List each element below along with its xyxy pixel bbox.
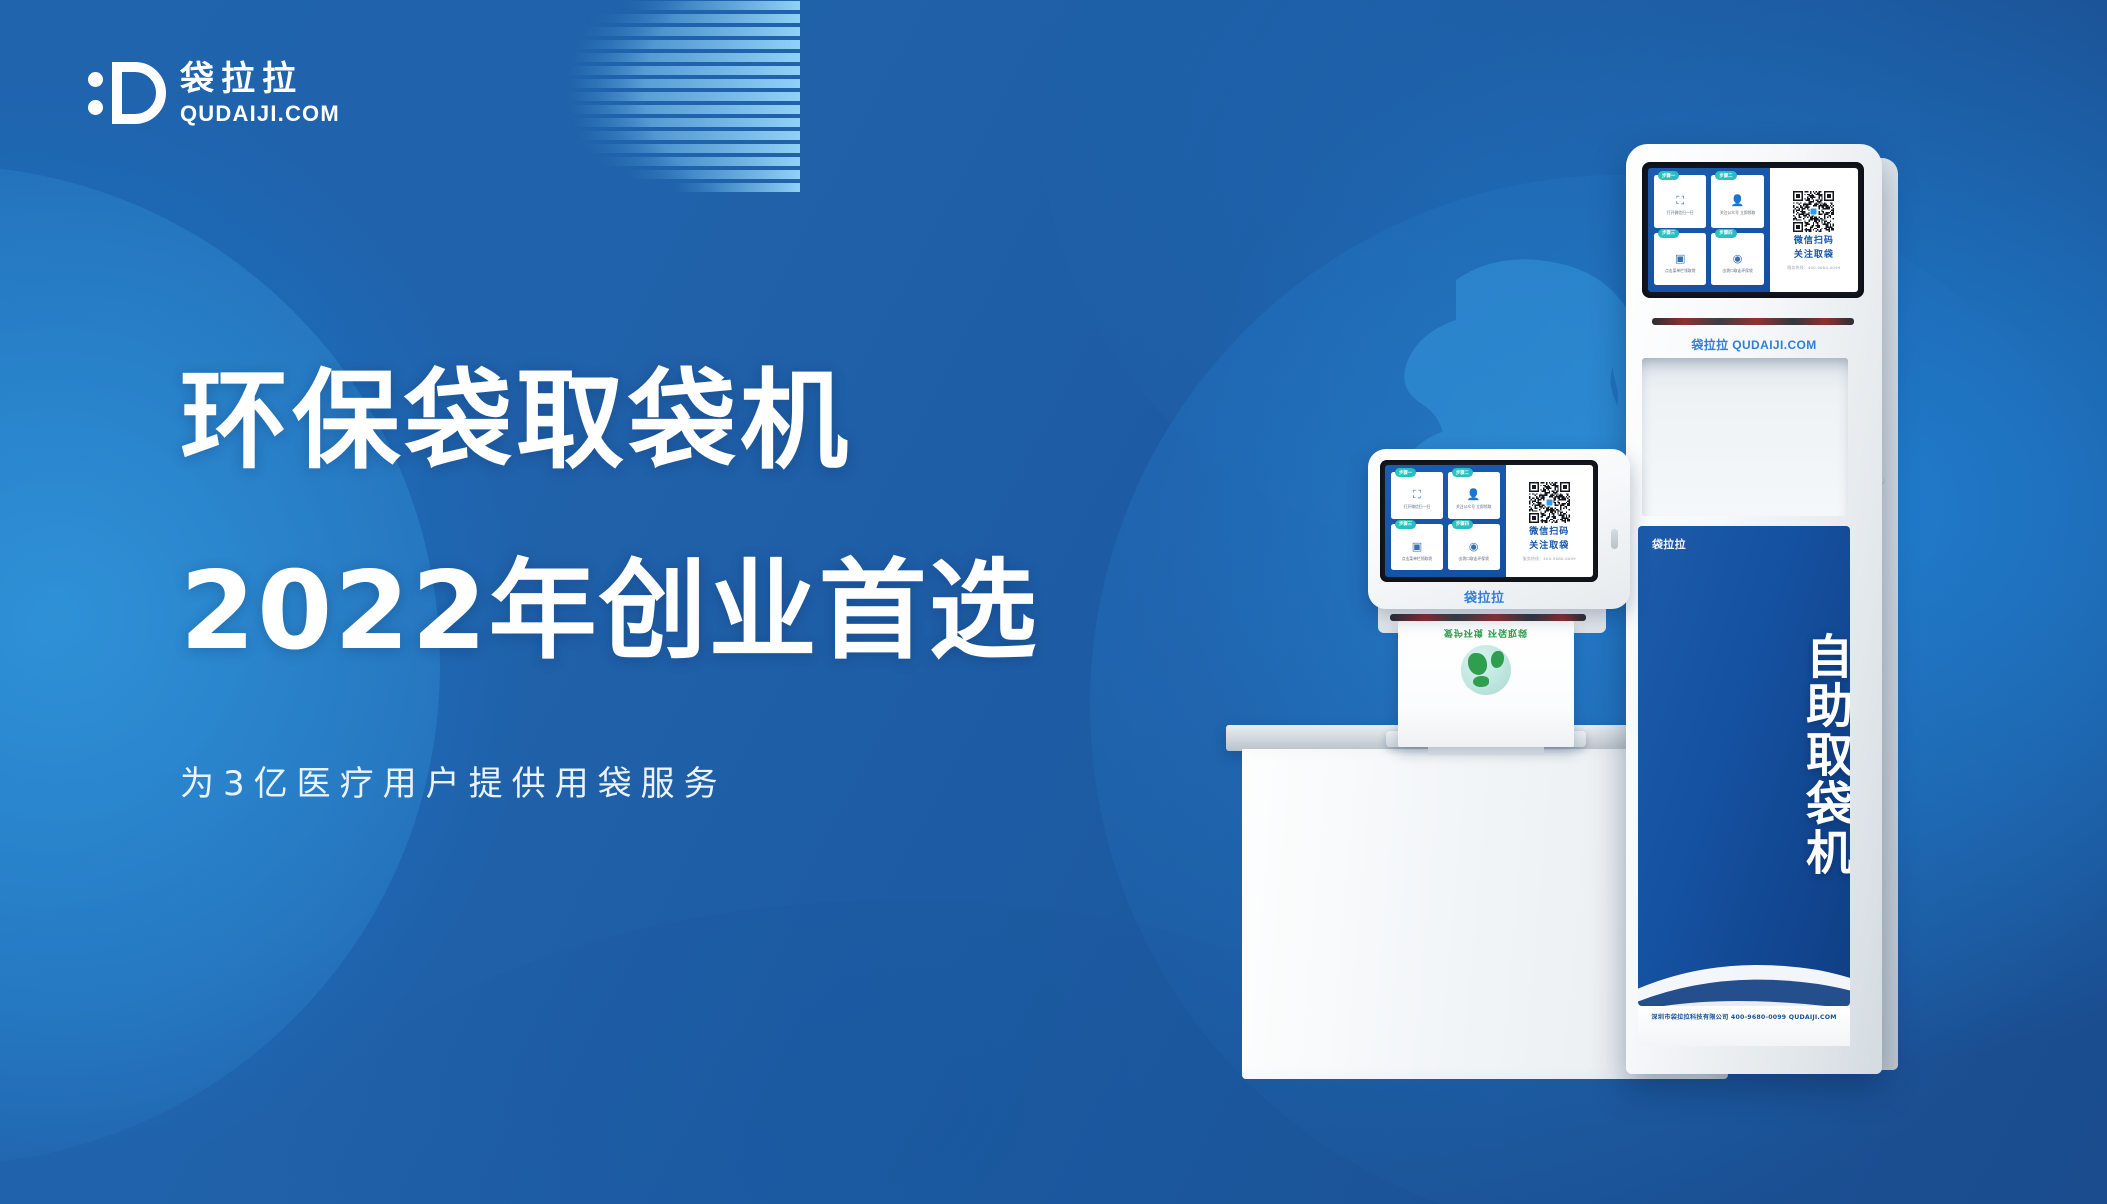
kiosk-step-card[interactable]: 步骤一⛶打开微信扫一扫 (1654, 175, 1706, 228)
kiosk-step-caption: 出袋口取走环保袋 (1457, 556, 1491, 561)
decor-stripe (503, 131, 800, 140)
hero-headline-line2: 2022年创业首选 (180, 558, 1180, 666)
kiosk-steps-grid: 步骤一⛶打开微信扫一扫步骤二👤关注公众号 立即领取步骤三▣点击菜单栏领取袋步骤四… (1385, 465, 1506, 577)
logo-dot-lower (88, 100, 103, 115)
decor-stripe (442, 79, 800, 88)
green-globe-icon (1461, 645, 1511, 695)
kiosk-step-caption: 出袋口取走环保袋 (1720, 268, 1754, 273)
dispensed-eco-bag: 爱护环境 环保取袋 (1398, 621, 1574, 747)
promo-banner: 袋拉拉 QUDAIJI.COM 环保袋取袋机 2022年创业首选 为3亿医疗用户… (0, 0, 2107, 1204)
check-circle-icon: ◉ (1731, 253, 1744, 266)
qr-label-line2: 关注取袋 (1529, 541, 1569, 551)
decor-stripe (476, 118, 800, 127)
scan-frame-icon: ⛶ (1674, 195, 1687, 208)
logo-d-letter (112, 62, 166, 124)
kiosk-step-card[interactable]: 步骤四◉出袋口取走环保袋 (1711, 233, 1763, 286)
kiosk-screen-ui: 步骤一⛶打开微信扫一扫步骤二👤关注公众号 立即领取步骤三▣点击菜单栏领取袋步骤四… (1385, 465, 1593, 577)
hero-subline: 为3亿医疗用户提供用袋服务 (180, 756, 1180, 805)
counter-kiosk-dispense-slot (1390, 614, 1586, 621)
decor-stripe (620, 1, 800, 10)
kiosk-screen-ui: 步骤一⛶打开微信扫一扫步骤二👤关注公众号 立即领取步骤三▣点击菜单栏领取袋步骤四… (1648, 168, 1858, 292)
kiosk-step-card[interactable]: 步骤二👤关注公众号 立即领取 (1448, 472, 1500, 519)
decor-stripe (476, 53, 800, 62)
kiosk-step-badge: 步骤二 (1715, 171, 1736, 180)
decor-stripe (455, 105, 800, 114)
tall-kiosk-body: 步骤一⛶打开微信扫一扫步骤二👤关注公众号 立即领取步骤三▣点击菜单栏领取袋步骤四… (1626, 144, 1882, 1074)
counter-kiosk-body-logo: 袋拉拉 (1464, 587, 1505, 606)
tall-kiosk-footer-strip: 深圳市袋拉拉科技有限公司 400-9680-0099 QUDAIJI.COM (1638, 1006, 1850, 1046)
tall-kiosk-panel-title: 自助取袋机 (1638, 578, 1850, 930)
qrcode-icon: ▣ (1410, 541, 1423, 554)
hero-headline-line1: 环保袋取袋机 (180, 368, 1180, 476)
kiosk-step-badge: 步骤四 (1715, 229, 1736, 238)
kiosk-step-caption: 打开微信扫一扫 (1402, 504, 1433, 509)
decor-stripe (503, 40, 800, 49)
decor-stripe (537, 27, 800, 36)
tall-kiosk-fineprint: 深圳市袋拉拉科技有限公司 400-9680-0099 QUDAIJI.COM (1642, 1011, 1846, 1021)
tall-kiosk-dispense-slot (1652, 318, 1854, 325)
kiosk-step-badge: 步骤一 (1395, 468, 1416, 477)
colon-d-mark-icon (88, 60, 166, 126)
kiosk-qr-panel: 微信扫码 关注取袋 服务热线：400-9680-0099 (1770, 168, 1858, 292)
kiosk-step-card[interactable]: 步骤一⛶打开微信扫一扫 (1391, 472, 1443, 519)
tall-kiosk-body-logo: 袋拉拉 QUDAIJI.COM (1626, 336, 1882, 353)
kiosk-step-caption: 关注公众号 立即领取 (1718, 210, 1757, 215)
counter-kiosk-screen[interactable]: 步骤一⛶打开微信扫一扫步骤二👤关注公众号 立即领取步骤三▣点击菜单栏领取袋步骤四… (1380, 460, 1598, 582)
decor-stripe (670, 183, 800, 192)
kiosk-step-card[interactable]: 步骤二👤关注公众号 立即领取 (1711, 175, 1763, 228)
brand-name-cn: 袋拉拉 (180, 62, 340, 98)
follow-user-icon: 👤 (1731, 195, 1744, 208)
tall-kiosk-panel-logo: 袋拉拉 (1652, 536, 1686, 552)
qr-center-logo (1809, 207, 1818, 216)
counter-kiosk-head: 步骤一⛶打开微信扫一扫步骤二👤关注公众号 立即领取步骤三▣点击菜单栏领取袋步骤四… (1368, 449, 1630, 609)
kiosk-step-card[interactable]: 步骤三▣点击菜单栏领取袋 (1391, 524, 1443, 571)
qrcode-icon: ▣ (1674, 253, 1687, 266)
brand-logo-text: 袋拉拉 QUDAIJI.COM (180, 60, 340, 127)
qr-hint-text: 服务热线：400-9680-0099 (1787, 265, 1840, 271)
tall-kiosk-branding-panel: 袋拉拉 自助取袋机 (1638, 526, 1850, 1006)
kiosk-step-badge: 步骤一 (1658, 171, 1679, 180)
decor-stripe (455, 66, 800, 75)
kiosk-step-card[interactable]: 步骤四◉出袋口取走环保袋 (1448, 524, 1500, 571)
brand-name-en: QUDAIJI.COM (180, 101, 340, 127)
check-circle-icon: ◉ (1467, 541, 1480, 554)
kiosk-step-caption: 打开微信扫一扫 (1665, 210, 1696, 215)
decor-stripes (440, 0, 800, 192)
kiosk-step-badge: 步骤二 (1452, 468, 1473, 477)
qr-label-line1: 微信扫码 (1529, 527, 1569, 537)
decor-stripe (576, 14, 800, 23)
qr-label-line2: 关注取袋 (1794, 250, 1834, 260)
hero-copy: 环保袋取袋机 2022年创业首选 为3亿医疗用户提供用袋服务 (180, 368, 1180, 805)
product-scene: 步骤一⛶打开微信扫一扫步骤二👤关注公众号 立即领取步骤三▣点击菜单栏领取袋步骤四… (1190, 150, 2090, 1150)
panel-wave-decor-icon (1638, 912, 1850, 1006)
tall-kiosk: 步骤一⛶打开微信扫一扫步骤二👤关注公众号 立即领取步骤三▣点击菜单栏领取袋步骤四… (1626, 144, 1926, 1094)
kiosk-qr-panel: 微信扫码 关注取袋 服务热线：400-9680-0099 (1506, 465, 1593, 577)
qr-hint-text: 服务热线：400-9680-0099 (1523, 556, 1576, 562)
follow-user-icon: 👤 (1467, 489, 1480, 502)
kiosk-step-caption: 点击菜单栏领取袋 (1663, 268, 1697, 273)
brand-logo[interactable]: 袋拉拉 QUDAIJI.COM (88, 60, 340, 127)
counter-kiosk: 爱护环境 环保取袋 步骤一⛶打开微信扫一扫步骤二👤关注公众号 立即领取步骤三▣点… (1368, 449, 1646, 749)
wechat-qr-icon[interactable] (1527, 480, 1571, 524)
wechat-qr-icon[interactable] (1792, 189, 1836, 233)
kiosk-steps-grid: 步骤一⛶打开微信扫一扫步骤二👤关注公众号 立即领取步骤三▣点击菜单栏领取袋步骤四… (1648, 168, 1770, 292)
qr-center-logo (1545, 498, 1554, 507)
decor-stripe (576, 157, 800, 166)
scan-frame-icon: ⛶ (1410, 489, 1423, 502)
kiosk-step-card[interactable]: 步骤三▣点击菜单栏领取袋 (1654, 233, 1706, 286)
kiosk-step-caption: 点击菜单栏领取袋 (1400, 556, 1434, 561)
logo-dot-upper (88, 72, 103, 87)
kiosk-step-badge: 步骤三 (1395, 520, 1416, 529)
tall-kiosk-screen[interactable]: 步骤一⛶打开微信扫一扫步骤二👤关注公众号 立即领取步骤三▣点击菜单栏领取袋步骤四… (1642, 162, 1864, 298)
kiosk-step-badge: 步骤三 (1658, 229, 1679, 238)
kiosk-step-badge: 步骤四 (1452, 520, 1473, 529)
decor-stripe (442, 92, 800, 101)
tall-kiosk-pickup-cavity (1642, 358, 1848, 516)
kiosk-step-caption: 关注公众号 立即领取 (1454, 504, 1493, 509)
decor-stripe (620, 170, 800, 179)
eco-bag-slogan: 爱护环境 环保取袋 (1398, 627, 1574, 640)
qr-label-line1: 微信扫码 (1794, 236, 1834, 246)
decor-stripe (537, 144, 800, 153)
